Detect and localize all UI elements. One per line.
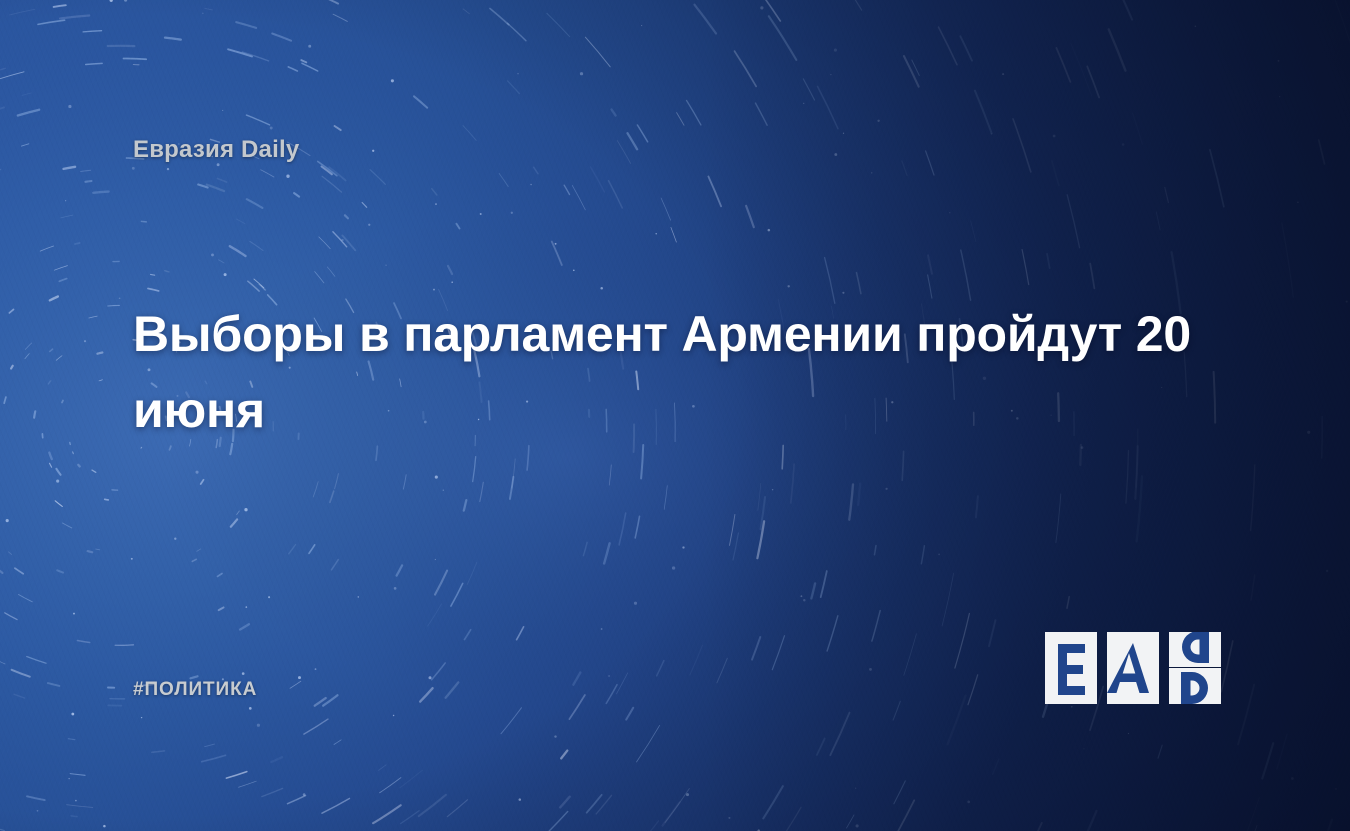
- card-content: Евразия Daily Выборы в парламент Армении…: [0, 0, 1350, 831]
- page-title: Выборы в парламент Армении пройдут 20 ию…: [133, 296, 1223, 448]
- logo-tile-d-top: [1169, 632, 1221, 667]
- eadaily-logo[interactable]: [1045, 632, 1221, 704]
- logo-tile-d-bottom: [1169, 668, 1221, 704]
- category-tag[interactable]: #ПОЛИТИКА: [133, 679, 257, 701]
- share-card: Евразия Daily Выборы в парламент Армении…: [0, 0, 1350, 831]
- logo-tile-a: [1107, 632, 1159, 704]
- brand-title: Евразия Daily: [133, 136, 299, 164]
- logo-tile-e: [1045, 632, 1097, 704]
